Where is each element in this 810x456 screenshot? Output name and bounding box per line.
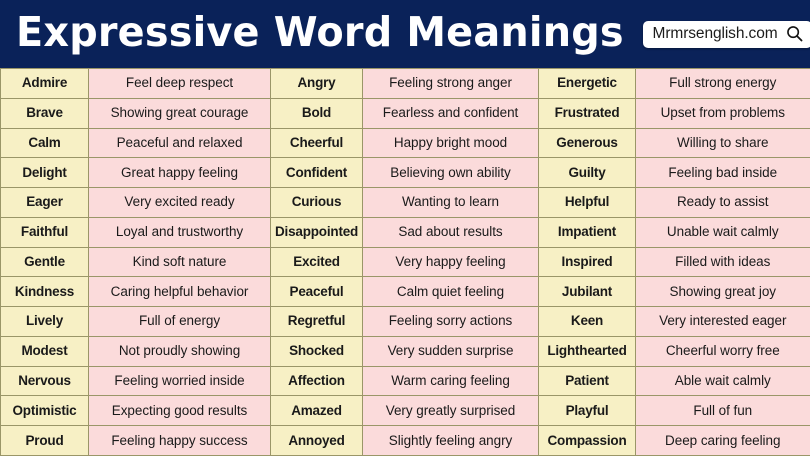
word-cell-col1: Admire (1, 69, 89, 99)
word-cell-col2: Excited (271, 247, 363, 277)
meaning-cell-col3: Full strong energy (636, 69, 810, 99)
meaning-cell-col1: Not proudly showing (89, 336, 271, 366)
meaning-cell-col1: Loyal and trustworthy (89, 217, 271, 247)
word-cell-col2: Angry (271, 69, 363, 99)
meaning-cell-col2: Feeling strong anger (363, 69, 539, 99)
table-row: GentleKind soft natureExcitedVery happy … (1, 247, 810, 277)
word-cell-col2: Confident (271, 158, 363, 188)
meaning-cell-col1: Showing great courage (89, 98, 271, 128)
word-cell-col2: Affection (271, 366, 363, 396)
meaning-cell-col2: Calm quiet feeling (363, 277, 539, 307)
word-cell-col2: Annoyed (271, 426, 363, 456)
search-site-label: Mrmrsenglish.com (653, 25, 778, 43)
word-meaning-table: AdmireFeel deep respectAngryFeeling stro… (0, 68, 810, 456)
meaning-cell-col2: Very greatly surprised (363, 396, 539, 426)
word-cell-col2: Regretful (271, 307, 363, 337)
header-bar: Expressive Word Meanings Mrmrsenglish.co… (0, 0, 810, 68)
meaning-cell-col1: Great happy feeling (89, 158, 271, 188)
table-row: BraveShowing great courageBoldFearless a… (1, 98, 810, 128)
meaning-cell-col1: Feeling worried inside (89, 366, 271, 396)
word-cell-col1: Optimistic (1, 396, 89, 426)
word-cell-col2: Curious (271, 188, 363, 218)
meaning-cell-col2: Fearless and confident (363, 98, 539, 128)
meaning-cell-col1: Expecting good results (89, 396, 271, 426)
meaning-cell-col1: Caring helpful behavior (89, 277, 271, 307)
word-cell-col1: Gentle (1, 247, 89, 277)
meaning-cell-col1: Full of energy (89, 307, 271, 337)
word-cell-col1: Delight (1, 158, 89, 188)
word-cell-col3: Energetic (539, 69, 636, 99)
word-cell-col1: Calm (1, 128, 89, 158)
meaning-cell-col2: Wanting to learn (363, 188, 539, 218)
word-cell-col3: Helpful (539, 188, 636, 218)
table-row: KindnessCaring helpful behaviorPeacefulC… (1, 277, 810, 307)
table-row: DelightGreat happy feelingConfidentBelie… (1, 158, 810, 188)
meaning-cell-col3: Ready to assist (636, 188, 810, 218)
poster-root: Expressive Word Meanings Mrmrsenglish.co… (0, 0, 810, 456)
table-row: ProudFeeling happy successAnnoyedSlightl… (1, 426, 810, 456)
meaning-cell-col3: Very interested eager (636, 307, 810, 337)
word-cell-col2: Peaceful (271, 277, 363, 307)
table-row: AdmireFeel deep respectAngryFeeling stro… (1, 69, 810, 99)
word-cell-col3: Guilty (539, 158, 636, 188)
meaning-cell-col3: Full of fun (636, 396, 810, 426)
table-row: ModestNot proudly showingShockedVery sud… (1, 336, 810, 366)
meaning-cell-col1: Peaceful and relaxed (89, 128, 271, 158)
table-row: FaithfulLoyal and trustworthyDisappointe… (1, 217, 810, 247)
meaning-cell-col3: Cheerful worry free (636, 336, 810, 366)
word-cell-col3: Keen (539, 307, 636, 337)
word-cell-col3: Playful (539, 396, 636, 426)
word-cell-col3: Impatient (539, 217, 636, 247)
table-row: NervousFeeling worried insideAffectionWa… (1, 366, 810, 396)
table-row: CalmPeaceful and relaxedCheerfulHappy br… (1, 128, 810, 158)
meaning-cell-col2: Sad about results (363, 217, 539, 247)
search-box[interactable]: Mrmrsenglish.com (643, 21, 810, 48)
meaning-cell-col3: Able wait calmly (636, 366, 810, 396)
word-cell-col1: Faithful (1, 217, 89, 247)
meaning-cell-col1: Kind soft nature (89, 247, 271, 277)
word-cell-col3: Patient (539, 366, 636, 396)
word-cell-col1: Lively (1, 307, 89, 337)
table-row: OptimisticExpecting good resultsAmazedVe… (1, 396, 810, 426)
meaning-cell-col3: Willing to share (636, 128, 810, 158)
meaning-cell-col3: Filled with ideas (636, 247, 810, 277)
word-cell-col1: Kindness (1, 277, 89, 307)
meaning-cell-col3: Feeling bad inside (636, 158, 810, 188)
word-cell-col1: Proud (1, 426, 89, 456)
word-cell-col2: Cheerful (271, 128, 363, 158)
meaning-cell-col2: Happy bright mood (363, 128, 539, 158)
word-cell-col3: Compassion (539, 426, 636, 456)
search-icon[interactable] (786, 25, 803, 42)
word-cell-col1: Brave (1, 98, 89, 128)
meaning-cell-col2: Believing own ability (363, 158, 539, 188)
meaning-cell-col2: Feeling sorry actions (363, 307, 539, 337)
word-cell-col1: Eager (1, 188, 89, 218)
meaning-cell-col1: Feel deep respect (89, 69, 271, 99)
page-title: Expressive Word Meanings (16, 12, 624, 56)
word-cell-col3: Generous (539, 128, 636, 158)
meaning-cell-col2: Warm caring feeling (363, 366, 539, 396)
meaning-cell-col2: Very sudden surprise (363, 336, 539, 366)
meaning-cell-col2: Very happy feeling (363, 247, 539, 277)
meaning-cell-col3: Upset from problems (636, 98, 810, 128)
meaning-cell-col3: Showing great joy (636, 277, 810, 307)
table-row: LivelyFull of energyRegretfulFeeling sor… (1, 307, 810, 337)
meaning-cell-col3: Unable wait calmly (636, 217, 810, 247)
word-cell-col2: Shocked (271, 336, 363, 366)
word-cell-col1: Modest (1, 336, 89, 366)
table-row: EagerVery excited readyCuriousWanting to… (1, 188, 810, 218)
meaning-cell-col3: Deep caring feeling (636, 426, 810, 456)
word-cell-col2: Disappointed (271, 217, 363, 247)
meaning-cell-col1: Feeling happy success (89, 426, 271, 456)
table-body: AdmireFeel deep respectAngryFeeling stro… (1, 69, 810, 456)
word-cell-col3: Inspired (539, 247, 636, 277)
word-cell-col1: Nervous (1, 366, 89, 396)
meaning-cell-col1: Very excited ready (89, 188, 271, 218)
word-cell-col2: Amazed (271, 396, 363, 426)
word-cell-col3: Lighthearted (539, 336, 636, 366)
word-cell-col2: Bold (271, 98, 363, 128)
word-cell-col3: Jubilant (539, 277, 636, 307)
meaning-cell-col2: Slightly feeling angry (363, 426, 539, 456)
word-cell-col3: Frustrated (539, 98, 636, 128)
